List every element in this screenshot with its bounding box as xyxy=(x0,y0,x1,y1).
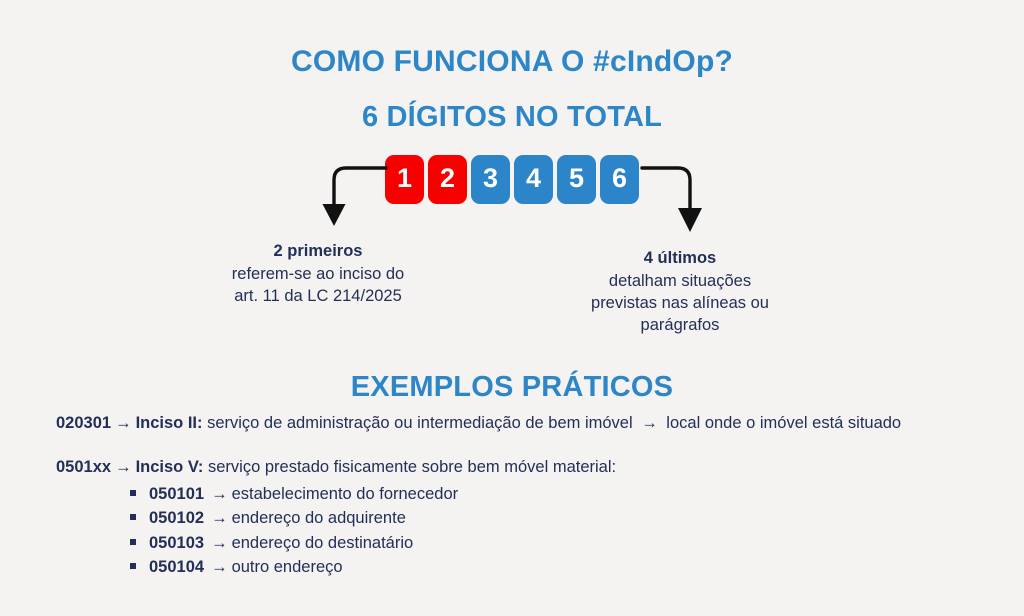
digit-box-2: 2 xyxy=(428,155,467,204)
square-bullet-icon xyxy=(130,514,136,520)
caption-left-title: 2 primeiros xyxy=(183,240,453,262)
example-1-arrow-1-icon: → xyxy=(115,414,132,432)
example-2-code: 0501xx xyxy=(56,458,111,476)
caption-right-line-3: parágrafos xyxy=(545,314,815,336)
bullet-arrow-icon: → xyxy=(211,482,228,506)
caption-left-line-1: referem-se ao inciso do xyxy=(183,263,453,285)
example-line-1: 020301→Inciso II: serviço de administraç… xyxy=(56,414,901,433)
bullet-arrow-icon: → xyxy=(211,531,228,555)
example-2-arrow-1-icon: → xyxy=(115,458,132,476)
example-1-arrow-2-icon: → xyxy=(641,414,658,432)
bullet-arrow-icon: → xyxy=(211,506,228,530)
bullet-text: estabelecimento do fornecedor xyxy=(232,482,459,506)
digit-box-5: 5 xyxy=(557,155,596,204)
bullet-text: endereço do destinatário xyxy=(232,531,414,555)
caption-right-line-2: previstas nas alíneas ou xyxy=(545,292,815,314)
example-2-text: serviço prestado fisicamente sobre bem m… xyxy=(203,458,616,476)
example-bullet-list: 050101 → estabelecimento do fornecedor 0… xyxy=(130,482,458,580)
bullet-text: endereço do adquirente xyxy=(232,506,406,530)
examples-heading: EXEMPLOS PRÁTICOS xyxy=(0,371,1024,404)
bullet-text: outro endereço xyxy=(232,555,343,579)
list-item: 050101 → estabelecimento do fornecedor xyxy=(130,482,458,506)
list-item: 050103 → endereço do destinatário xyxy=(130,531,458,555)
example-1-code: 020301 xyxy=(56,414,111,432)
example-1-inciso: Inciso II: xyxy=(136,414,203,432)
digit-box-3: 3 xyxy=(471,155,510,204)
caption-right-line-1: detalham situações xyxy=(545,270,815,292)
infographic-canvas: COMO FUNCIONA O #cIndOp? 6 DÍGITOS NO TO… xyxy=(0,0,1024,616)
bullet-code: 050101 xyxy=(149,482,204,506)
example-line-2: 0501xx→Inciso V: serviço prestado fisica… xyxy=(56,458,616,477)
square-bullet-icon xyxy=(130,539,136,545)
example-2-inciso: Inciso V: xyxy=(136,458,204,476)
digit-box-row: 1 2 3 4 5 6 xyxy=(0,155,1024,204)
list-item: 050104 → outro endereço xyxy=(130,555,458,579)
square-bullet-icon xyxy=(130,490,136,496)
arrow-left-curved-icon xyxy=(308,150,394,241)
caption-last-four-digits: 4 últimos detalham situações previstas n… xyxy=(545,247,815,336)
digit-box-4: 4 xyxy=(514,155,553,204)
main-heading: COMO FUNCIONA O #cIndOp? xyxy=(0,45,1024,79)
bullet-code: 050103 xyxy=(149,531,204,555)
caption-left-line-2: art. 11 da LC 214/2025 xyxy=(183,285,453,307)
example-1-result: local onde o imóvel está situado xyxy=(662,414,901,432)
list-item: 050102 → endereço do adquirente xyxy=(130,506,458,530)
sub-heading: 6 DÍGITOS NO TOTAL xyxy=(0,101,1024,134)
caption-first-two-digits: 2 primeiros referem-se ao inciso do art.… xyxy=(183,240,453,307)
bullet-code: 050104 xyxy=(149,555,204,579)
caption-right-title: 4 últimos xyxy=(545,247,815,269)
bullet-arrow-icon: → xyxy=(211,555,228,579)
example-1-text: serviço de administração ou intermediaçã… xyxy=(203,414,638,432)
square-bullet-icon xyxy=(130,563,136,569)
bullet-code: 050102 xyxy=(149,506,204,530)
digit-box-6: 6 xyxy=(600,155,639,204)
arrow-right-curved-icon xyxy=(636,150,722,247)
